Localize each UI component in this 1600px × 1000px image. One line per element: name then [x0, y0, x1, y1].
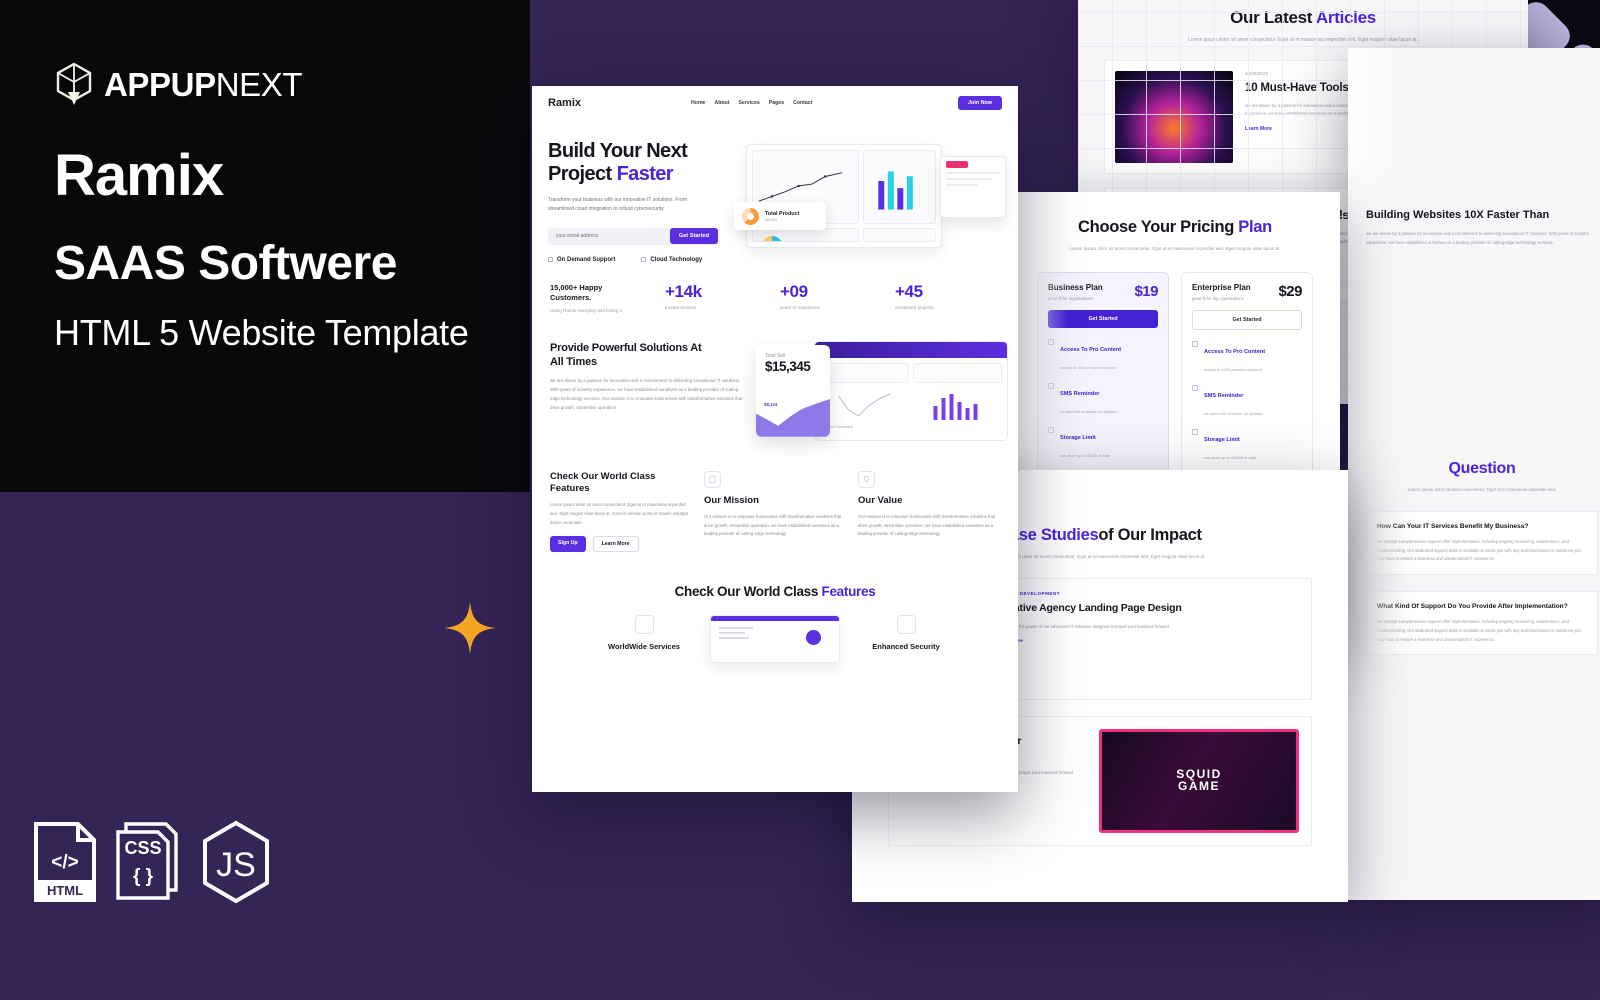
feature-label: WorldWide Services — [588, 642, 700, 651]
checkbox-icon[interactable] — [1192, 429, 1198, 435]
pricing-heading-accent: Plan — [1238, 218, 1272, 236]
feature-center-preview — [710, 615, 840, 663]
faq-side-partial-title: Building Websites 10X Faster Than — [1366, 208, 1598, 222]
solutions-section: Provide Powerful Solutions At All Times … — [532, 325, 1018, 455]
site-navbar: Ramix Home About Services Pages Contact … — [532, 86, 1018, 118]
pricing-card-header: Enterprise Plan great fit for big organi… — [1192, 283, 1302, 301]
svg-text:{ }: { } — [133, 866, 154, 887]
feature-text: Our mission is to empower businesses wit… — [704, 513, 846, 539]
articles-heading: Our Latest Articles — [1078, 0, 1528, 28]
panel-footer-label: Revenue Statement — [815, 422, 1007, 432]
articles-subtitle: Lorem ipsum dolor sit amet consectetur. … — [1078, 36, 1528, 46]
solutions-illustration: Revenue Statement Total Sell $15,345 $8,… — [756, 341, 1000, 445]
nav-item-services[interactable]: Services — [738, 100, 759, 106]
mini-bar-chart — [913, 388, 1002, 422]
brand-logo: APPUPNEXT — [54, 62, 302, 106]
check-on-demand-support: On Demand Support — [548, 257, 615, 263]
solutions-title-line1: Provide Powerful Solutions At — [550, 341, 746, 355]
feature-sub: access to 400 premium resource — [1060, 365, 1116, 370]
stat-value: +45 — [895, 283, 1000, 300]
feature-column-mission: Our Mission Our mission is to empower bu… — [704, 471, 846, 552]
hero-paragraph: Transform your business with our innovat… — [548, 196, 712, 215]
features-row: WorldWide Services Enhanced Security — [532, 599, 1018, 663]
articles-heading-plain: Our Latest — [1230, 8, 1316, 27]
feature-title: Access To Pro Content — [1060, 347, 1121, 353]
js-badge: JS — [198, 820, 268, 904]
stat-label: completed projects — [895, 305, 1000, 310]
feature-sub: access to 1000 premium resource — [1204, 367, 1263, 372]
hero-title: Build Your Next Project Faster — [548, 140, 732, 186]
feature-text: Our mission is to empower businesses wit… — [858, 513, 1000, 539]
feature-enhanced-security: Enhanced Security — [850, 615, 962, 651]
solutions-paragraph: we are driven by a passion for innovatio… — [550, 377, 746, 412]
email-input[interactable] — [548, 233, 668, 239]
feature-sub: we send 100 reminder on updates — [1204, 411, 1263, 416]
plan-fit: great fit for big organisations — [1192, 296, 1251, 301]
learn-more-button[interactable]: Learn More — [593, 536, 639, 552]
sign-up-button[interactable]: Sign Up — [550, 536, 586, 552]
checkbox-icon[interactable] — [1192, 341, 1198, 347]
site-logo[interactable]: Ramix — [548, 97, 581, 109]
check-icon — [641, 257, 646, 262]
total-product-float-card: Total Product 45,854 — [734, 202, 826, 230]
solutions-title-line2: All Times — [550, 355, 746, 369]
case-study-thumbnail-squid-game: SQUID GAME — [1099, 729, 1299, 833]
mockup-fade-overlay — [1348, 48, 1406, 900]
page-tagline: HTML 5 Website Template — [54, 311, 524, 354]
nav-item-contact[interactable]: Contact — [793, 100, 812, 106]
css-badge: CSS { } — [114, 820, 184, 904]
globe-icon — [635, 615, 654, 634]
join-now-button[interactable]: Join Now — [958, 96, 1002, 110]
nav-item-pages[interactable]: Pages — [769, 100, 784, 106]
case-studies-heading-plain: of Our Impact — [1098, 526, 1201, 544]
svg-text:HTML: HTML — [47, 883, 83, 898]
case-study-tag: MOBILE DEVELOPMENT — [997, 591, 1299, 596]
feature-title: Our Mission — [704, 495, 846, 507]
stat-label: trusted reviews — [665, 305, 770, 310]
mini-line-chart — [820, 388, 909, 422]
page-title: Ramix — [54, 144, 524, 209]
feature-title-line2: Features — [550, 483, 692, 495]
feature-column-value: Our Value Our mission is to empower busi… — [858, 471, 1000, 552]
dashboard-grid — [747, 145, 941, 247]
trophy-icon — [858, 471, 875, 488]
feature-title: Access To Pro Content — [1204, 349, 1265, 355]
articles-heading-accent: Articles — [1316, 8, 1376, 27]
faq-side-partial-text: we are driven by a passion for innovatio… — [1366, 230, 1598, 247]
faq-page-mockup[interactable]: Building Websites 10X Faster Than we are… — [1348, 48, 1600, 900]
donut-chart-card — [752, 228, 859, 242]
hero-title-line2: Project — [548, 163, 617, 185]
poster-canvas: APPUPNEXT Ramix SAAS Softwere HTML 5 Web… — [0, 0, 1600, 1000]
cube-logo-icon — [54, 62, 94, 106]
bar-chart-card — [863, 150, 936, 224]
features-heading-plain: Check Our World Class — [675, 584, 822, 599]
check-label: Cloud Technology — [650, 257, 702, 263]
solutions-copy: Provide Powerful Solutions At All Times … — [550, 341, 746, 445]
article-thumbnail — [1115, 71, 1233, 163]
check-label: On Demand Support — [557, 257, 615, 263]
feature-title: Our Value — [858, 495, 1000, 507]
case-study-title: Creative Agency Landing Page Design — [997, 602, 1299, 616]
brand-bold: APPUP — [104, 66, 216, 103]
plan-price: $19 — [1134, 283, 1158, 300]
get-started-button[interactable]: Get Started — [670, 228, 718, 244]
stats-row: 15,000+ Happy Customers. Using Ramix eve… — [532, 269, 1018, 325]
page-subtitle: SAAS Softwere — [54, 237, 524, 291]
plan-feature: Access To Pro Contentaccess to 1000 prem… — [1192, 340, 1302, 376]
donut-icon — [742, 208, 759, 225]
features-section-heading: Check Our World Class Features — [532, 584, 1018, 599]
faq-answer: We provide comprehensive support after i… — [1377, 538, 1587, 564]
feature-text: Lorem ipsum dolor sit amet consectetur. … — [550, 501, 692, 527]
pricing-heading-plain: Choose Your Pricing — [1078, 218, 1238, 236]
svg-text:CSS: CSS — [124, 838, 161, 858]
shield-icon — [897, 615, 916, 634]
html-badge: </> HTML — [30, 820, 100, 904]
nav-links: Home About Services Pages Contact — [691, 100, 812, 106]
panel-body — [815, 358, 1007, 388]
plan-feature: Storage Limitcan store up to 150GB of da… — [1192, 428, 1302, 464]
nav-item-home[interactable]: Home — [691, 100, 705, 106]
stat-label: years of experience — [780, 305, 885, 310]
stat-headline-line2: Customers. — [550, 293, 655, 303]
stat-value: +14k — [665, 283, 770, 300]
float-card-sub: 45,854 — [765, 217, 799, 222]
squid-thumb-label-2: GAME — [1178, 780, 1220, 793]
faq-answer: We provide comprehensive support after i… — [1377, 618, 1587, 644]
plan-get-started-button[interactable]: Get Started — [1192, 310, 1302, 330]
email-signup-row: Get Started — [548, 228, 720, 245]
check-cloud-technology: Cloud Technology — [641, 257, 702, 263]
total-sell-value: $15,345 — [765, 359, 821, 374]
stat-headline-line1: 15,000+ Happy — [550, 283, 655, 293]
feature-title-line1: Check Our World Class — [550, 471, 692, 483]
case-study-learn-more-link[interactable]: Learn More — [997, 639, 1299, 644]
dashboard-window — [746, 144, 942, 248]
three-feature-columns: Check Our World Class Features Lorem ips… — [532, 455, 1018, 564]
feature-title: Storage Limit — [1204, 437, 1240, 443]
feature-buttons: Sign Up Learn More — [550, 536, 692, 552]
plan-price: $29 — [1278, 283, 1302, 300]
feature-sub: can store up to 150GB of data — [1204, 455, 1256, 460]
brand-wordmark: APPUPNEXT — [104, 68, 302, 101]
brand-light: NEXT — [216, 66, 302, 103]
stat-reviews: +14k trusted reviews — [665, 283, 770, 310]
feature-label: Enhanced Security — [850, 642, 962, 651]
svg-text:JS: JS — [216, 846, 256, 884]
mini-stat-box — [820, 363, 909, 383]
hero-title-line1: Build Your Next — [548, 140, 687, 162]
check-icon — [548, 257, 553, 262]
faq-question[interactable]: What Kind Of Support Do You Provide Afte… — [1377, 602, 1587, 612]
total-sell-card: Total Sell $15,345 $8,124 — [756, 345, 830, 437]
four-point-star-icon-orange — [444, 602, 496, 654]
main-site-mockup[interactable]: Ramix Home About Services Pages Contact … — [532, 86, 1018, 792]
faq-question[interactable]: How Can Your IT Services Benefit My Busi… — [1377, 522, 1587, 532]
tech-badges: </> HTML CSS { } JS — [30, 820, 268, 904]
feature-sub: we send 50 reminder on updates — [1060, 409, 1117, 414]
feature-worldwide-services: WorldWide Services — [588, 615, 700, 651]
hero-dashboard-illustration: Total Product 45,854 — [740, 140, 1002, 263]
mini-stat-box — [913, 363, 1002, 383]
hero-section: Build Your Next Project Faster Transform… — [532, 118, 1018, 269]
case-study-text: Experience the power of our advanced IT … — [997, 623, 1299, 631]
panel-header-bar — [815, 342, 1007, 358]
plan-name: Enterprise Plan — [1192, 283, 1251, 292]
nav-item-about[interactable]: About — [714, 100, 729, 106]
dashboard-side-card — [940, 156, 1006, 218]
float-card-title: Total Product — [765, 211, 799, 217]
feature-column-world-class: Check Our World Class Features Lorem ips… — [550, 471, 692, 552]
revenue-dashboard-panel: Revenue Statement — [814, 341, 1008, 441]
features-heading-accent: Features — [822, 584, 876, 599]
hero-checks: On Demand Support Cloud Technology — [548, 257, 732, 263]
background-panel-purple — [0, 492, 530, 1000]
poster-title-block: Ramix SAAS Softwere HTML 5 Website Templ… — [54, 144, 524, 354]
document-icon — [704, 471, 721, 488]
svg-text:</>: </> — [51, 852, 78, 873]
plan-feature: SMS Reminderwe send 100 reminder on upda… — [1192, 384, 1302, 420]
map-card — [863, 228, 936, 242]
stat-headline: 15,000+ Happy Customers. Using Ramix eve… — [550, 283, 655, 313]
total-sell-tag: $8,124 — [764, 402, 777, 407]
hero-title-accent: Faster — [617, 163, 673, 185]
checkbox-icon[interactable] — [1192, 385, 1198, 391]
feature-title: SMS Reminder — [1204, 393, 1243, 399]
hero-copy: Build Your Next Project Faster Transform… — [548, 140, 732, 263]
stat-experience: +09 years of experience — [780, 283, 885, 310]
stat-value: +09 — [780, 283, 885, 300]
stat-headline-sub: Using Ramix everyday and loving it — [550, 308, 655, 313]
stat-projects: +45 completed projects — [895, 283, 1000, 310]
